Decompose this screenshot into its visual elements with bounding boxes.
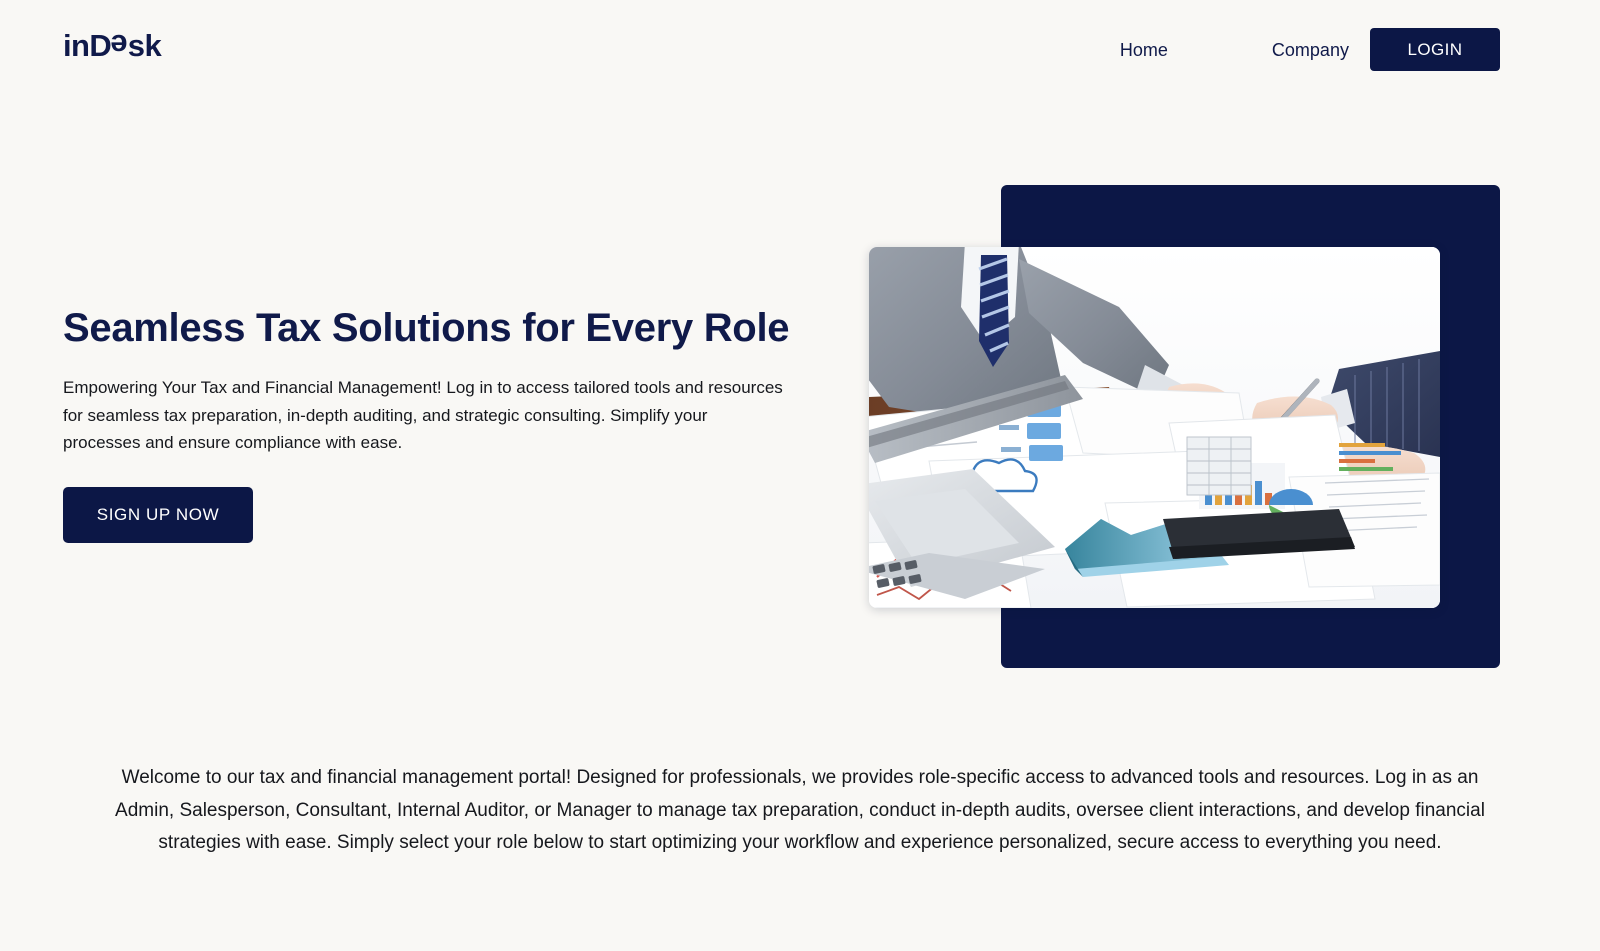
hero-section: Seamless Tax Solutions for Every Role Em… — [0, 100, 1600, 720]
brand-logo[interactable]: inDesk — [63, 30, 161, 61]
nav-link-home[interactable]: Home — [1110, 36, 1178, 65]
hero-subtitle: Empowering Your Tax and Financial Manage… — [63, 374, 788, 457]
nav-link-company[interactable]: Company — [1262, 36, 1359, 65]
hero-copy: Seamless Tax Solutions for Every Role Em… — [63, 305, 803, 543]
site-header: inDesk Home Company Help LOGIN — [0, 0, 1600, 100]
welcome-section: Welcome to our tax and financial managem… — [0, 762, 1600, 860]
landing-page: inDesk Home Company Help LOGIN Seamless … — [0, 0, 1600, 951]
brand-logo-schwa-glyph: e — [111, 30, 128, 61]
sign-up-now-button[interactable]: SIGN UP NOW — [63, 487, 253, 543]
brand-logo-text-pre: inD — [63, 28, 111, 63]
main-navigation: Home Company Help LOGIN — [1110, 36, 1500, 65]
login-button[interactable]: LOGIN — [1370, 28, 1500, 71]
hero-artwork — [840, 100, 1540, 700]
hero-photo-illustration — [869, 247, 1440, 608]
hero-title: Seamless Tax Solutions for Every Role — [63, 305, 803, 352]
hero-photo — [869, 247, 1440, 608]
welcome-paragraph: Welcome to our tax and financial managem… — [95, 762, 1505, 860]
brand-logo-text-post: sk — [128, 28, 161, 63]
